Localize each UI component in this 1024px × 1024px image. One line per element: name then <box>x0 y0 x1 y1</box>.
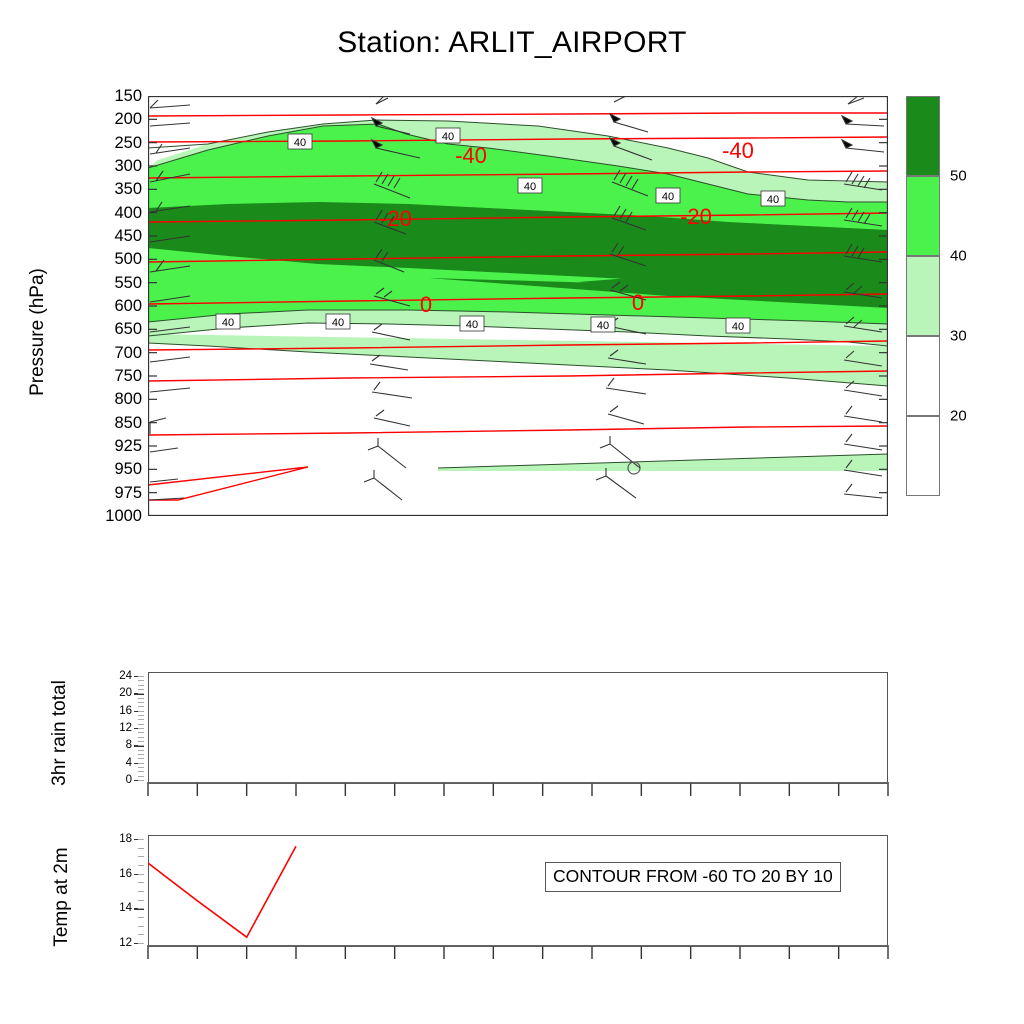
axis-minor-tick <box>138 698 144 699</box>
rh-label: 40 <box>222 317 234 329</box>
axis-minor-tick <box>138 934 144 935</box>
pressure-tick-200: 200 <box>114 111 142 128</box>
pressure-tick-350: 350 <box>114 181 142 198</box>
axis-minor-tick <box>138 754 144 755</box>
pressure-tick-300: 300 <box>114 158 142 175</box>
axis-tick-24: 24 <box>102 670 132 682</box>
temp-x-axis <box>140 945 900 967</box>
rh-label: 40 <box>466 319 478 331</box>
axis-minor-tick <box>138 776 144 777</box>
axis-tick-0: 0 <box>102 774 132 786</box>
rain-panel <box>148 672 888 784</box>
pressure-tick-800: 800 <box>114 391 142 408</box>
pressure-axis-title: Pressure (hPa) <box>27 182 49 482</box>
axis-minor-tick <box>138 693 144 694</box>
main-cross-section-panel: 40 40 40 40 40 40 40 40 <box>148 96 888 516</box>
axis-tick-18: 18 <box>102 833 132 845</box>
axis-minor-tick <box>138 856 144 857</box>
axis-minor-tick <box>138 891 144 892</box>
rain-panel-frame <box>148 672 888 784</box>
pressure-tick-500: 500 <box>114 251 142 268</box>
contour-note-box: CONTOUR FROM -60 TO 20 BY 10 <box>545 862 841 892</box>
axis-minor-tick <box>138 839 144 840</box>
axis-minor-tick <box>138 771 144 772</box>
axis-tick-20: 20 <box>102 687 132 699</box>
rh-label: 40 <box>442 131 454 143</box>
pressure-tick-450: 450 <box>114 228 142 245</box>
axis-minor-tick <box>138 908 144 909</box>
pressure-tick-400: 400 <box>114 205 142 222</box>
pressure-tick-250: 250 <box>114 135 142 152</box>
axis-minor-tick <box>138 689 144 690</box>
rh-label: 40 <box>732 321 744 333</box>
axis-minor-tick <box>138 750 144 751</box>
axis-tick-16: 16 <box>102 705 132 717</box>
pressure-tick-550: 550 <box>114 275 142 292</box>
rh-label: 40 <box>662 191 674 203</box>
pressure-axis-title-wrap: Pressure (hPa) <box>0 96 60 516</box>
colorbar-segment-2 <box>906 256 940 336</box>
pressure-tick-700: 700 <box>114 345 142 362</box>
rh-label: 40 <box>524 181 536 193</box>
axis-minor-tick <box>138 767 144 768</box>
axis-tick-8: 8 <box>102 739 132 751</box>
isotherm-label-0: 0 <box>420 292 432 317</box>
axis-minor-tick <box>138 874 144 875</box>
rh-label: 40 <box>294 137 306 149</box>
sounding-cross-section-page: Station: ARLIT_AIRPORT 15020025030035040… <box>0 0 1024 1024</box>
axis-minor-tick <box>138 702 144 703</box>
axis-minor-tick <box>138 676 144 677</box>
pressure-tick-1000: 1000 <box>105 508 142 525</box>
axis-minor-tick <box>138 724 144 725</box>
rh-label: 40 <box>767 194 779 206</box>
axis-minor-tick <box>138 763 144 764</box>
temp-axis-ticks: 18161412 <box>98 835 144 947</box>
axis-minor-tick <box>138 865 144 866</box>
colorbar-label-40: 40 <box>950 248 967 265</box>
pressure-axis-labels: 1502002503003504004505005506006507007508… <box>58 96 142 516</box>
axis-minor-tick <box>138 711 144 712</box>
axis-minor-tick <box>138 848 144 849</box>
pressure-tick-600: 600 <box>114 298 142 315</box>
axis-minor-tick <box>138 732 144 733</box>
colorbar-label-30: 30 <box>950 328 967 345</box>
isotherm-label-m40: -40 <box>455 143 487 168</box>
temp-panel-title: Temp at 2m <box>51 807 73 987</box>
axis-minor-tick <box>138 728 144 729</box>
pressure-tick-950: 950 <box>114 461 142 478</box>
isotherm-label-m20: -20 <box>680 204 712 229</box>
isotherm-label-0: 0 <box>632 290 644 315</box>
axis-tick-4: 4 <box>102 757 132 769</box>
colorbar-segment-4 <box>906 416 940 496</box>
axis-tick-12: 12 <box>102 937 132 949</box>
axis-minor-tick <box>138 719 144 720</box>
axis-minor-tick <box>138 917 144 918</box>
cross-section-plot: 40 40 40 40 40 40 40 40 <box>148 96 888 516</box>
page-title: Station: ARLIT_AIRPORT <box>0 26 1024 60</box>
rain-axis-ticks: 24201612840 <box>98 672 144 784</box>
axis-tick-16: 16 <box>102 868 132 880</box>
colorbar-segment-1 <box>906 176 940 256</box>
colorbar-segment-3 <box>906 336 940 416</box>
axis-minor-tick <box>138 943 144 944</box>
axis-minor-tick <box>138 882 144 883</box>
pressure-tick-975: 975 <box>114 485 142 502</box>
axis-minor-tick <box>138 715 144 716</box>
rain-panel-title: 3hr rain total <box>49 643 71 823</box>
axis-minor-tick <box>138 741 144 742</box>
colorbar-label-20: 20 <box>950 408 967 425</box>
pressure-tick-650: 650 <box>114 321 142 338</box>
axis-minor-tick <box>138 745 144 746</box>
colorbar-label-50: 50 <box>950 168 967 185</box>
axis-minor-tick <box>138 926 144 927</box>
axis-tick-14: 14 <box>102 902 132 914</box>
rh-label: 40 <box>332 317 344 329</box>
relative-humidity-colorbar: 50403020 <box>906 96 940 496</box>
rh-label: 40 <box>597 320 609 332</box>
pressure-tick-850: 850 <box>114 415 142 432</box>
pressure-tick-150: 150 <box>114 88 142 105</box>
axis-minor-tick <box>138 900 144 901</box>
axis-minor-tick <box>138 706 144 707</box>
colorbar-segment-0 <box>906 96 940 176</box>
pressure-tick-750: 750 <box>114 368 142 385</box>
isotherm-label-m20: -20 <box>380 206 412 231</box>
axis-tick-12: 12 <box>102 722 132 734</box>
rain-x-axis <box>140 782 900 804</box>
axis-minor-tick <box>138 737 144 738</box>
axis-minor-tick <box>138 780 144 781</box>
axis-minor-tick <box>138 685 144 686</box>
axis-minor-tick <box>138 680 144 681</box>
pressure-tick-925: 925 <box>114 438 142 455</box>
axis-minor-tick <box>138 758 144 759</box>
isotherm-label-m40: -40 <box>722 138 754 163</box>
